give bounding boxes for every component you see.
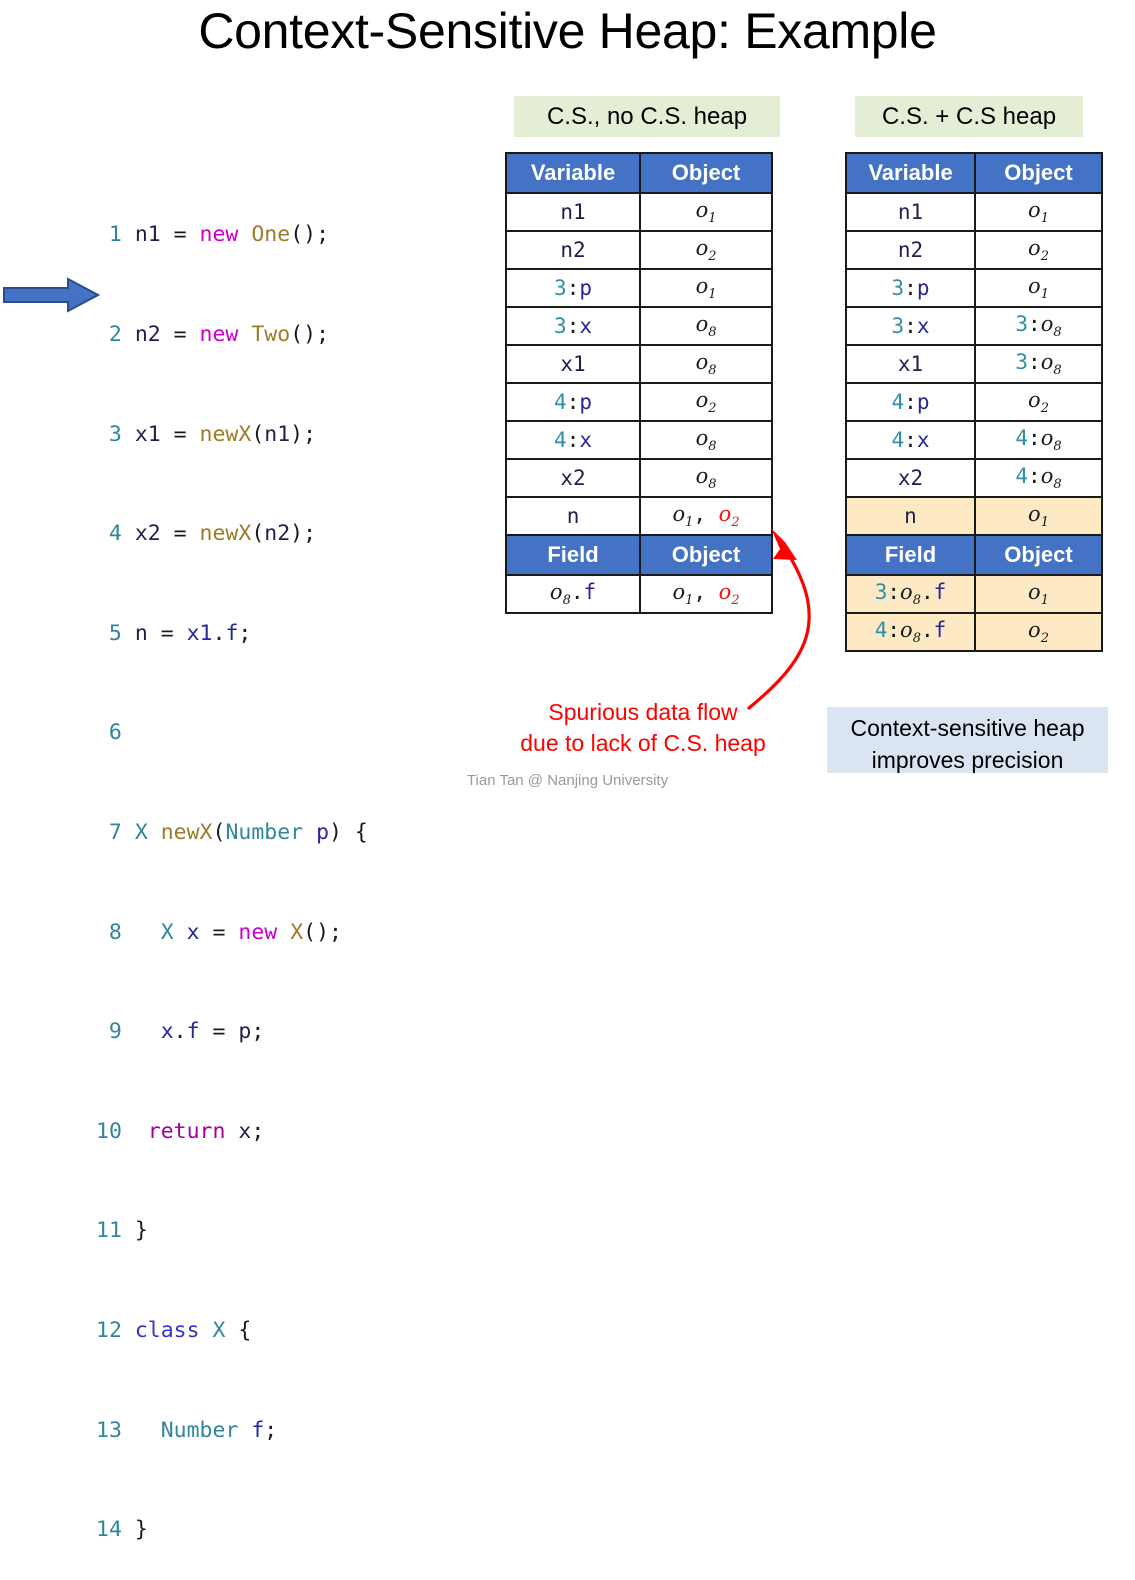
- cell-object: o1: [975, 193, 1102, 231]
- cell-object: o8: [640, 421, 772, 459]
- cell-variable: x2: [846, 459, 975, 497]
- table-row: 3:po1: [506, 269, 772, 307]
- line-number: 7: [96, 816, 122, 849]
- line-number: 10: [96, 1115, 122, 1148]
- cell-variable: n2: [506, 231, 640, 269]
- table-header-row: Field Object: [506, 535, 772, 575]
- code-line: 14}: [96, 1513, 368, 1546]
- column-header-field: Field: [846, 535, 975, 575]
- table-row-highlighted: 4:o8.fo2: [846, 613, 1102, 651]
- cell-variable: n1: [506, 193, 640, 231]
- code-line: 11}: [96, 1214, 368, 1247]
- cell-object: 4:o8: [975, 459, 1102, 497]
- code-line: 13 Number f;: [96, 1414, 368, 1447]
- column-header-object: Object: [640, 535, 772, 575]
- code-line: 8 X x = new X();: [96, 916, 368, 949]
- column-header-variable: Variable: [506, 153, 640, 193]
- spurious-flow-note-line2: due to lack of C.S. heap: [493, 728, 793, 759]
- column-header-object: Object: [640, 153, 772, 193]
- cell-object: o2: [975, 231, 1102, 269]
- cell-variable: n: [846, 497, 975, 535]
- cell-variable: x2: [506, 459, 640, 497]
- cell-variable: 4:p: [506, 383, 640, 421]
- spurious-flow-note: Spurious data flow due to lack of C.S. h…: [493, 697, 793, 759]
- left-table-caption: C.S., no C.S. heap: [514, 96, 780, 137]
- cell-object: o8: [640, 459, 772, 497]
- line-number: 13: [96, 1414, 122, 1447]
- line-number: 2: [96, 318, 122, 351]
- cell-variable: n: [506, 497, 640, 535]
- column-header-field: Field: [506, 535, 640, 575]
- table-row-highlighted: no1: [846, 497, 1102, 535]
- cell-object: o8: [640, 307, 772, 345]
- table-row: x24:o8: [846, 459, 1102, 497]
- cell-object: o2: [975, 383, 1102, 421]
- cell-variable: n2: [846, 231, 975, 269]
- table-row: x13:o8: [846, 345, 1102, 383]
- cell-object: o1: [975, 497, 1102, 535]
- line-number: 3: [96, 418, 122, 451]
- cell-object: o2: [640, 383, 772, 421]
- cell-object: o8: [640, 345, 772, 383]
- cell-object-spurious: o1, o2: [640, 575, 772, 613]
- cell-object: o1: [975, 575, 1102, 613]
- cell-object: 3:o8: [975, 345, 1102, 383]
- table-row: 4:xo8: [506, 421, 772, 459]
- cell-variable: n1: [846, 193, 975, 231]
- table-row: n1o1: [506, 193, 772, 231]
- table-row: no1, o2: [506, 497, 772, 535]
- line-number: 14: [96, 1513, 122, 1546]
- line-number: 11: [96, 1214, 122, 1247]
- left-points-to-table: Variable Object n1o1 n2o2 3:po1 3:xo8 x1…: [505, 152, 773, 614]
- cell-object-spurious: o1, o2: [640, 497, 772, 535]
- page-title: Context-Sensitive Heap: Example: [0, 2, 1135, 60]
- cell-object: 3:o8: [975, 307, 1102, 345]
- cell-object: o1: [975, 269, 1102, 307]
- spurious-flow-note-line1: Spurious data flow: [493, 697, 793, 728]
- table-row: 3:xo8: [506, 307, 772, 345]
- table-row: x1o8: [506, 345, 772, 383]
- code-line: 3x1 = newX(n1);: [96, 418, 368, 451]
- cell-variable: 4:x: [846, 421, 975, 459]
- column-header-object: Object: [975, 535, 1102, 575]
- table-row: 4:po2: [506, 383, 772, 421]
- code-line: 2n2 = new Two();: [96, 318, 368, 351]
- table-row: 4:po2: [846, 383, 1102, 421]
- table-header-row: Variable Object: [846, 153, 1102, 193]
- current-line-arrow-icon: [2, 277, 100, 313]
- line-number: 1: [96, 218, 122, 251]
- code-listing: 1n1 = new One(); 2n2 = new Two(); 3x1 = …: [96, 152, 368, 1580]
- column-header-object: Object: [975, 153, 1102, 193]
- table-row: 4:x4:o8: [846, 421, 1102, 459]
- table-row: n1o1: [846, 193, 1102, 231]
- table-row-highlighted: 3:o8.fo1: [846, 575, 1102, 613]
- line-number: 12: [96, 1314, 122, 1347]
- code-line: 6: [96, 716, 368, 749]
- cell-variable: 3:p: [506, 269, 640, 307]
- cell-variable: x1: [846, 345, 975, 383]
- line-number: 5: [96, 617, 122, 650]
- table-row: n2o2: [506, 231, 772, 269]
- right-points-to-table: Variable Object n1o1 n2o2 3:po1 3:x3:o8 …: [845, 152, 1103, 652]
- line-number: 6: [96, 716, 122, 749]
- cell-object: o2: [975, 613, 1102, 651]
- cell-variable: 4:p: [846, 383, 975, 421]
- table-header-row: Field Object: [846, 535, 1102, 575]
- table-row: x2o8: [506, 459, 772, 497]
- cell-variable: 3:p: [846, 269, 975, 307]
- code-line: 12class X {: [96, 1314, 368, 1347]
- cell-object: 4:o8: [975, 421, 1102, 459]
- cell-object: o1: [640, 193, 772, 231]
- table-header-row: Variable Object: [506, 153, 772, 193]
- cell-variable: 3:x: [506, 307, 640, 345]
- precision-note-box: Context-sensitive heap improves precisio…: [827, 707, 1108, 773]
- right-table-caption: C.S. + C.S heap: [855, 96, 1083, 137]
- code-line: 1n1 = new One();: [96, 218, 368, 251]
- cell-object: o2: [640, 231, 772, 269]
- table-row: n2o2: [846, 231, 1102, 269]
- code-line: 4x2 = newX(n2);: [96, 517, 368, 550]
- cell-field: 4:o8.f: [846, 613, 975, 651]
- code-line: 9 x.f = p;: [96, 1015, 368, 1048]
- column-header-variable: Variable: [846, 153, 975, 193]
- precision-note-line1: Context-sensitive heap: [827, 712, 1108, 744]
- cell-field: o8.f: [506, 575, 640, 613]
- cell-variable: 4:x: [506, 421, 640, 459]
- table-row: 3:x3:o8: [846, 307, 1102, 345]
- cell-object: o1: [640, 269, 772, 307]
- cell-variable: 3:x: [846, 307, 975, 345]
- code-line: 7X newX(Number p) {: [96, 816, 368, 849]
- code-line-highlighted: 5n = x1.f;: [96, 617, 368, 650]
- table-row: o8.fo1, o2: [506, 575, 772, 613]
- line-number: 4: [96, 517, 122, 550]
- cell-variable: x1: [506, 345, 640, 383]
- table-row: 3:po1: [846, 269, 1102, 307]
- line-number: 9: [96, 1015, 122, 1048]
- code-line: 10 return x;: [96, 1115, 368, 1148]
- slide-footer: Tian Tan @ Nanjing University: [0, 772, 1135, 789]
- cell-field: 3:o8.f: [846, 575, 975, 613]
- line-number: 8: [96, 916, 122, 949]
